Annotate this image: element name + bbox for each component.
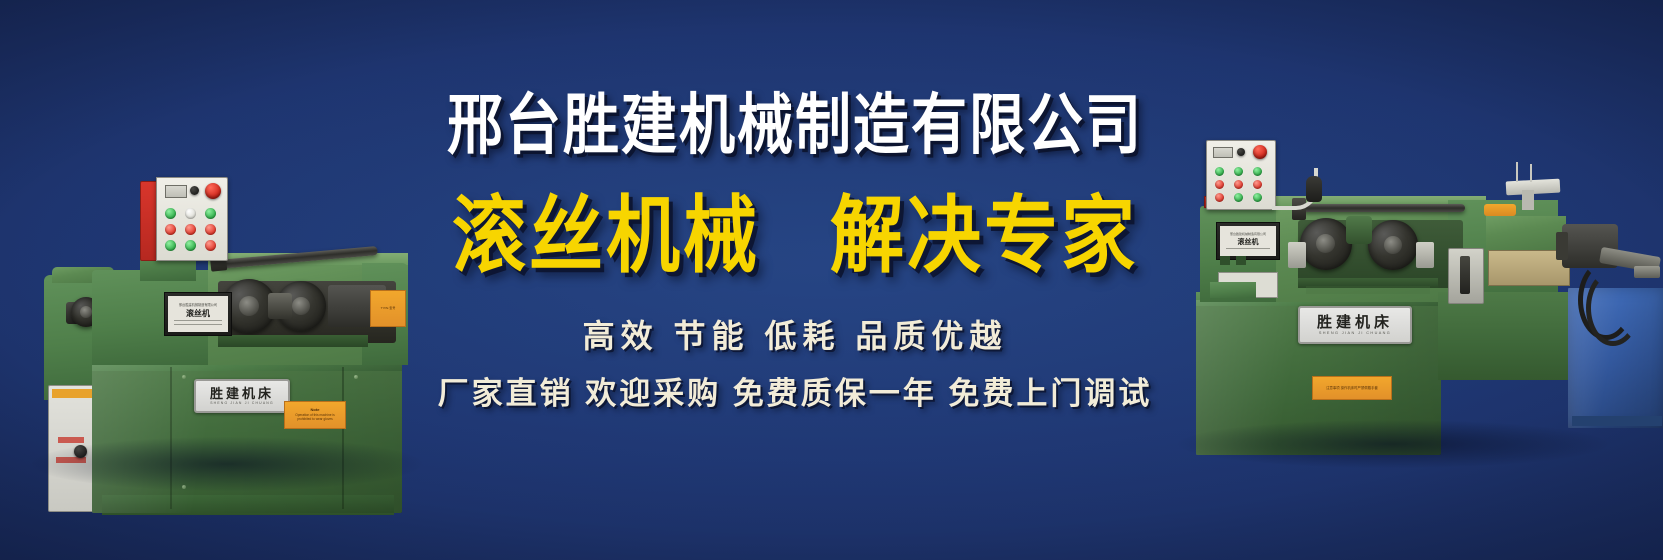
machine-left-image: 邢台胜建机械制造有限公司 滚丝机 TYPE 型号 胜建机床 SHENG JIAN… bbox=[22, 85, 422, 485]
panel-lamp[interactable] bbox=[185, 240, 196, 251]
machine-right-nameplate: 胜建机床 SHENG JIAN JI CHUANG bbox=[1298, 306, 1412, 344]
panel-lamp[interactable] bbox=[1234, 180, 1243, 189]
panel-lamp[interactable] bbox=[165, 240, 176, 251]
headline-row: 滚丝机械 解决专家 bbox=[395, 194, 1195, 268]
machine-right-control-panel bbox=[1206, 140, 1276, 210]
spec-plate-subtitle: 邢台胜建机械制造有限公司 bbox=[1230, 233, 1266, 237]
panel-lamp[interactable] bbox=[185, 224, 196, 235]
machine-right-warning-label: 注意事项 操作机床时严禁佩戴手套 bbox=[1312, 376, 1392, 400]
nameplate-en: SHENG JIAN JI CHUANG bbox=[210, 402, 274, 405]
panel-lamp[interactable] bbox=[205, 224, 216, 235]
panel-knob[interactable] bbox=[190, 186, 199, 195]
warning-body: Operation of this machine is prohibited … bbox=[285, 412, 345, 422]
banner-text-block: 邢台胜建机械制造有限公司 滚丝机械 解决专家 高效 节能 低耗 品质优越 厂家直… bbox=[395, 92, 1195, 409]
panel-lamp[interactable] bbox=[1215, 180, 1224, 189]
panel-lamp[interactable] bbox=[165, 208, 176, 219]
product-banner: 邢台胜建机械制造有限公司 滚丝机 TYPE 型号 胜建机床 SHENG JIAN… bbox=[0, 0, 1663, 560]
panel-display bbox=[1213, 147, 1233, 158]
panel-lamp[interactable] bbox=[205, 208, 216, 219]
tagline-primary: 高效 节能 低耗 品质优越 bbox=[395, 320, 1195, 352]
spec-plate-title: 滚丝机 bbox=[1238, 239, 1259, 246]
panel-lamp[interactable] bbox=[165, 224, 176, 235]
spec-plate-subtitle: 邢台胜建机械制造有限公司 bbox=[179, 303, 217, 307]
emergency-stop-button[interactable] bbox=[205, 183, 221, 199]
nameplate-en: SHENG JIAN JI CHUANG bbox=[1319, 332, 1391, 336]
nameplate-cn: 胜建机床 bbox=[210, 387, 274, 400]
tagline-secondary: 厂家直销 欢迎采购 免费质保一年 免费上门调试 bbox=[395, 378, 1195, 409]
panel-lamp[interactable] bbox=[1253, 180, 1262, 189]
headline-left: 滚丝机械 bbox=[452, 194, 760, 278]
nameplate-cn: 胜建机床 bbox=[1317, 315, 1393, 330]
panel-lamp[interactable] bbox=[1234, 193, 1243, 202]
panel-lamp[interactable] bbox=[205, 240, 216, 251]
machine-left-spec-plate: 邢台胜建机械制造有限公司 滚丝机 bbox=[164, 292, 232, 336]
panel-display bbox=[165, 185, 187, 198]
panel-lamp[interactable] bbox=[1215, 193, 1224, 202]
panel-lamp[interactable] bbox=[1234, 167, 1243, 176]
emergency-stop-button[interactable] bbox=[1253, 145, 1267, 159]
machine-left-warning-label: Note Operation of this machine is prohib… bbox=[284, 401, 346, 429]
company-name: 邢台胜建机械制造有限公司 bbox=[395, 92, 1195, 158]
panel-lamp[interactable] bbox=[1215, 167, 1224, 176]
machine-left-control-panel bbox=[156, 177, 228, 261]
panel-knob[interactable] bbox=[1237, 148, 1245, 156]
panel-lamp[interactable] bbox=[1253, 167, 1262, 176]
warning-body: 注意事项 操作机床时严禁佩戴手套 bbox=[1323, 385, 1381, 391]
machine-left-nameplate: 胜建机床 SHENG JIAN JI CHUANG bbox=[194, 379, 290, 413]
panel-lamp[interactable] bbox=[1253, 193, 1262, 202]
machine-right-spec-plate: 邢台胜建机械制造有限公司 滚丝机 bbox=[1216, 222, 1280, 260]
machine-right-image: 邢台胜建机械制造有限公司 滚丝机 bbox=[1148, 120, 1663, 460]
panel-lamp[interactable] bbox=[185, 208, 196, 219]
headline-right: 解决专家 bbox=[830, 194, 1138, 278]
spec-plate-title: 滚丝机 bbox=[186, 310, 210, 318]
